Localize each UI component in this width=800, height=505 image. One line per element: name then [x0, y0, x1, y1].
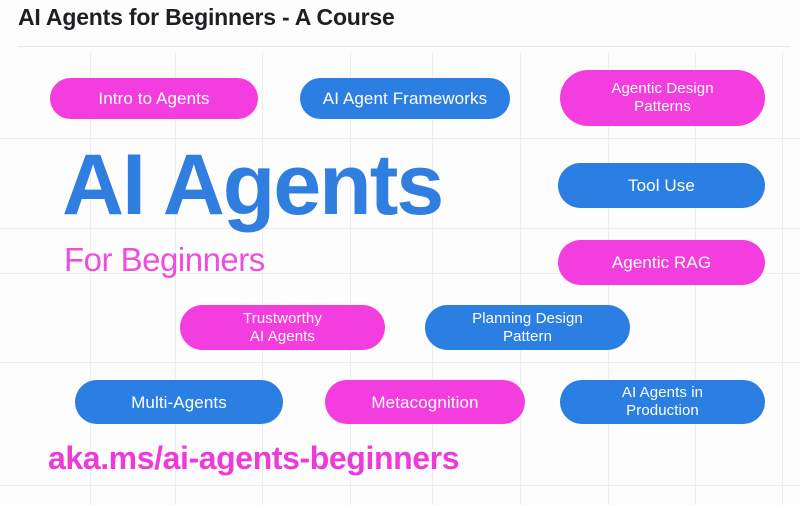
title-divider	[18, 46, 790, 47]
topic-pill-label: Planning DesignPattern	[472, 310, 583, 346]
grid-line-vertical	[520, 52, 521, 505]
course-url[interactable]: aka.ms/ai-agents-beginners	[48, 441, 459, 475]
topic-pill-label: Tool Use	[628, 176, 695, 195]
hero-wordmark: AI Agents	[62, 142, 442, 228]
course-poster: AI Agents for Beginners - A Course AI Ag…	[0, 0, 800, 505]
topic-pill-label: Agentic DesignPatterns	[611, 80, 713, 116]
topic-pill-trustworthy-ai-agents[interactable]: TrustworthyAI Agents	[180, 305, 385, 350]
topic-pill-ai-agent-frameworks[interactable]: AI Agent Frameworks	[300, 78, 510, 119]
topic-pill-label: TrustworthyAI Agents	[243, 310, 322, 346]
grid-line-vertical	[782, 52, 783, 505]
topic-pill-label: Agentic RAG	[612, 253, 711, 272]
topic-pill-ai-agents-in-production[interactable]: AI Agents inProduction	[560, 380, 765, 424]
grid-line-vertical	[432, 52, 433, 505]
topic-pill-label: Multi-Agents	[131, 393, 227, 412]
topic-pill-label: AI Agents inProduction	[622, 384, 703, 420]
topic-pill-label: Metacognition	[371, 393, 478, 412]
grid-line-horizontal	[0, 362, 800, 363]
hero-subtitle: For Beginners	[64, 243, 265, 276]
grid-line-horizontal	[0, 485, 800, 486]
grid-line-vertical	[90, 52, 91, 505]
grid-line-vertical	[350, 52, 351, 505]
topic-pill-multi-agents[interactable]: Multi-Agents	[75, 380, 283, 424]
topic-pill-tool-use[interactable]: Tool Use	[558, 163, 765, 208]
grid-line-vertical	[175, 52, 176, 505]
topic-pill-label: Intro to Agents	[98, 89, 209, 108]
topic-pill-agentic-rag[interactable]: Agentic RAG	[558, 240, 765, 285]
page-title: AI Agents for Beginners - A Course	[18, 4, 395, 31]
grid-line-vertical	[262, 52, 263, 505]
topic-pill-label: AI Agent Frameworks	[323, 89, 487, 108]
topic-pill-metacognition[interactable]: Metacognition	[325, 380, 525, 424]
topic-pill-agentic-design-patterns[interactable]: Agentic DesignPatterns	[560, 70, 765, 126]
topic-pill-intro-to-agents[interactable]: Intro to Agents	[50, 78, 258, 119]
topic-pill-planning-design-pattern[interactable]: Planning DesignPattern	[425, 305, 630, 350]
